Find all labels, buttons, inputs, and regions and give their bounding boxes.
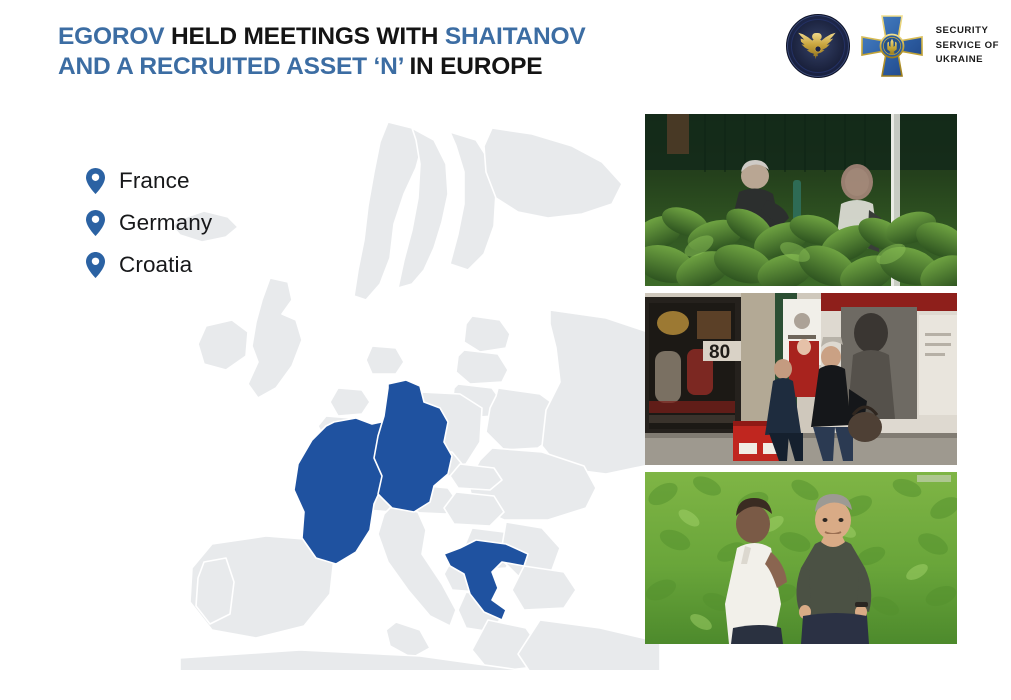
country-sicily	[386, 622, 430, 658]
svg-text:80: 80	[709, 342, 730, 363]
agency-logos: SECURITY SERVICE OF UKRAINE	[786, 14, 999, 78]
slide-header: EGOROV HELD MEETINGS WITH SHAITANOV AND …	[0, 0, 1011, 100]
title-text-held-meetings: HELD MEETINGS WITH	[171, 23, 438, 50]
country-denmark	[366, 346, 404, 374]
page-title: EGOROV HELD MEETINGS WITH SHAITANOV AND …	[58, 22, 658, 82]
eagle-icon	[796, 29, 840, 63]
legend-item-germany[interactable]: Germany	[86, 202, 212, 244]
surveillance-photo-hedge-meeting[interactable]	[645, 114, 957, 286]
country-latvia	[456, 350, 508, 384]
surveillance-photo-shopping-street[interactable]: 80	[645, 293, 957, 465]
title-subject-shaitanov: SHAITANOV	[445, 23, 586, 50]
country-turkey	[518, 620, 660, 670]
country-united-kingdom	[248, 278, 302, 398]
map-pin-icon	[86, 210, 105, 236]
title-text-recruited-asset: AND A RECRUITED ASSET ‘N’	[58, 53, 403, 80]
country-netherlands	[330, 388, 370, 416]
legend-item-label: Germany	[119, 210, 212, 236]
country-russia-northwest	[484, 128, 622, 218]
title-subject-egorov: EGOROV	[58, 23, 164, 50]
country-bulgaria	[512, 566, 576, 610]
country-legend: France Germany Croatia	[86, 160, 212, 286]
region-north-africa	[180, 650, 520, 670]
photo-shopping-street-image: 80	[645, 293, 957, 465]
legend-item-label: Croatia	[119, 252, 192, 278]
agency-name-line1: SECURITY	[936, 24, 999, 39]
ukraine-military-intelligence-emblem-icon	[786, 14, 850, 78]
title-text-in-europe: IN EUROPE	[409, 53, 542, 80]
country-portugal	[196, 558, 234, 624]
country-ireland	[198, 320, 248, 370]
surveillance-photo-column: 80	[645, 114, 957, 651]
legend-item-label: France	[119, 168, 190, 194]
legend-item-france[interactable]: France	[86, 160, 212, 202]
surveillance-photo-garden-conversation[interactable]	[645, 472, 957, 644]
agency-name-line3: UKRAINE	[936, 53, 999, 68]
country-estonia	[464, 316, 510, 352]
security-service-of-ukraine-cross-emblem-icon	[860, 14, 924, 78]
photo-garden-conversation-image	[645, 472, 957, 644]
country-italy	[378, 506, 456, 626]
map-pin-icon	[86, 168, 105, 194]
agency-name-label: SECURITY SERVICE OF UKRAINE	[936, 24, 999, 68]
country-russia-west	[542, 310, 654, 474]
photo-hedge-meeting-image	[645, 114, 957, 286]
country-slovakia	[450, 464, 502, 490]
country-hungary	[444, 492, 504, 526]
agency-name-line2: SERVICE OF	[936, 39, 999, 54]
map-pin-icon	[86, 252, 105, 278]
legend-item-croatia[interactable]: Croatia	[86, 244, 212, 286]
presentation-slide: EGOROV HELD MEETINGS WITH SHAITANOV AND …	[0, 0, 1011, 700]
